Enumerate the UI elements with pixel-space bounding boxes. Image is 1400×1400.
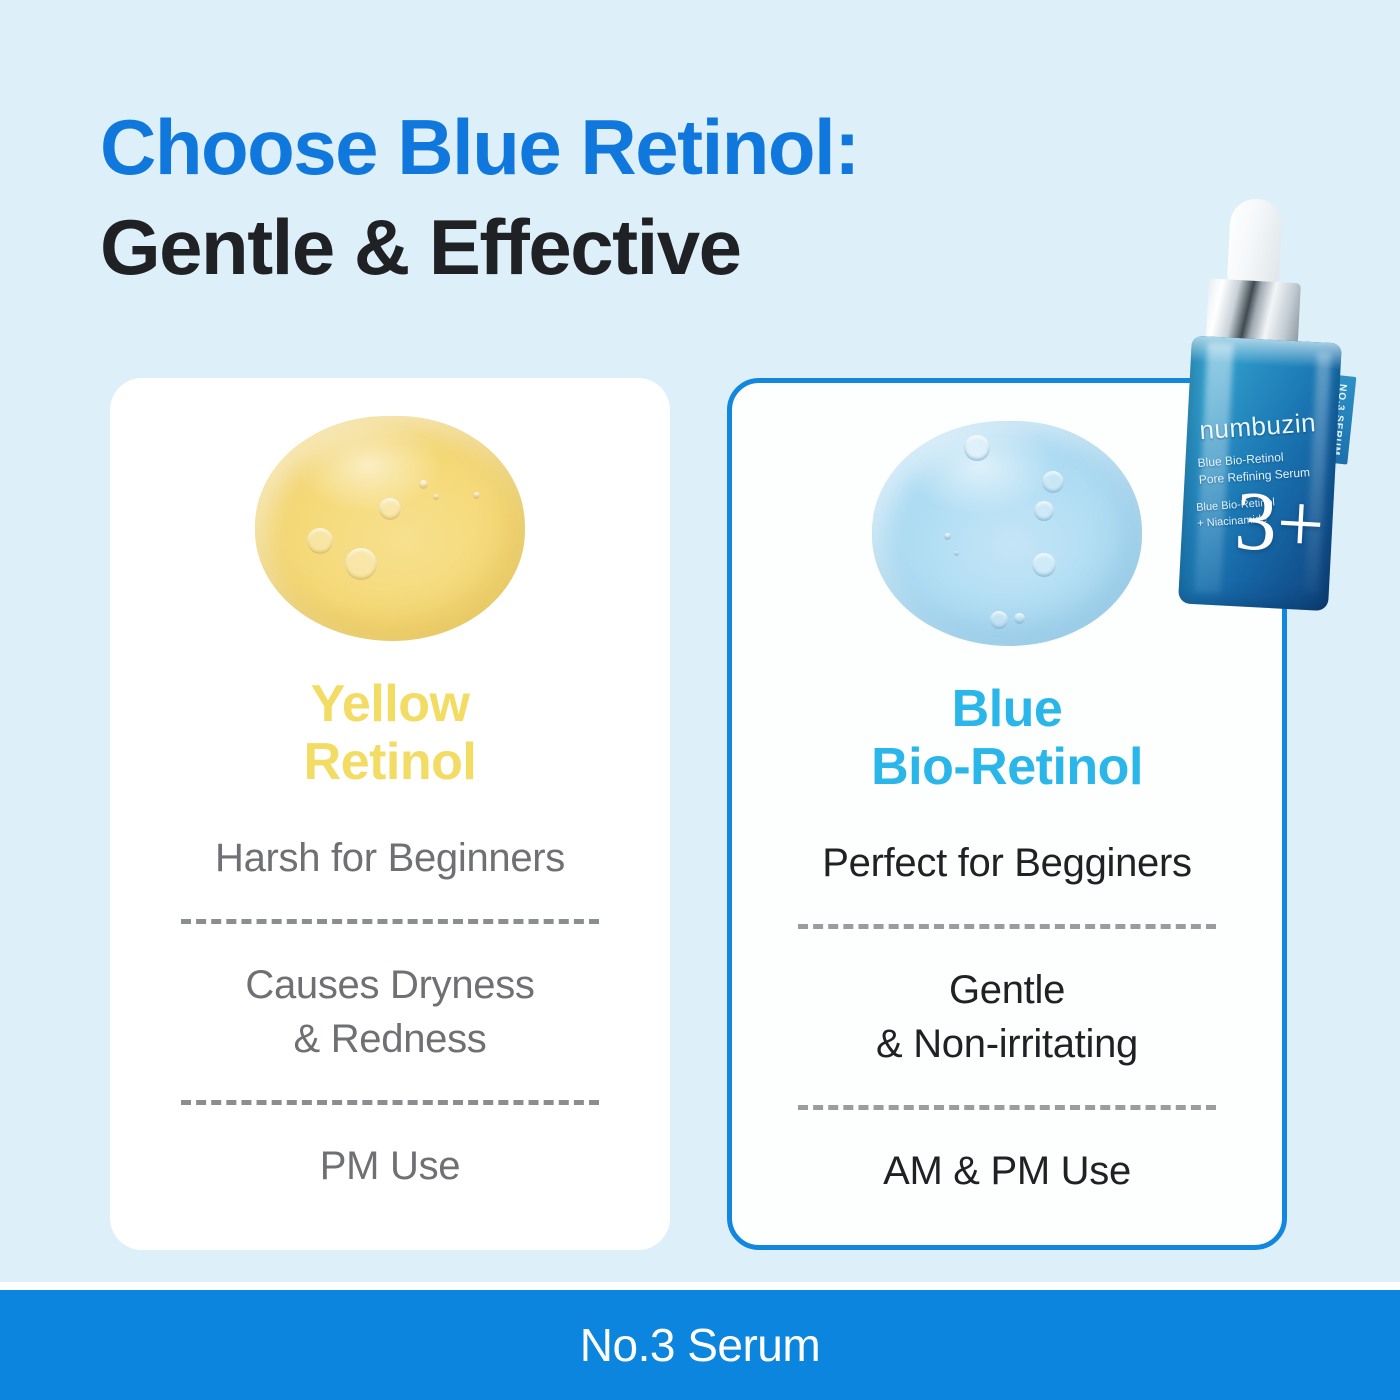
footer-label: No.3 Serum	[580, 1318, 820, 1372]
feature-item: AM & PM Use	[883, 1144, 1131, 1198]
yellow-serum-drop-icon	[255, 416, 525, 641]
footer-separator	[0, 1282, 1400, 1290]
card-title-blue-line-2: Bio-Retinol	[871, 738, 1143, 796]
feature-text: Gentle	[876, 963, 1138, 1017]
dropper-bulb-icon	[1227, 198, 1284, 293]
feature-item: Gentle & Non-irritating	[876, 963, 1138, 1071]
dropper-collar-icon	[1206, 278, 1301, 345]
feature-list-blue: Perfect for Begginers Gentle & Non-irrit…	[732, 836, 1282, 1198]
card-yellow-retinol[interactable]: Yellow Retinol Harsh for Beginners Cause…	[110, 378, 670, 1250]
feature-text: & Non-irritating	[876, 1017, 1138, 1071]
feature-text: Causes Dryness	[245, 958, 534, 1012]
product-bottle-image: NO.3 SERUM numbuzin Blue Bio-Retinol Por…	[1157, 195, 1389, 635]
headline-line-2: Gentle & Effective	[100, 208, 1250, 286]
feature-item: Perfect for Begginers	[822, 836, 1191, 890]
feature-divider	[181, 1100, 599, 1105]
feature-divider	[798, 924, 1216, 929]
feature-item: PM Use	[320, 1139, 460, 1193]
feature-list-yellow: Harsh for Beginners Causes Dryness & Red…	[110, 831, 670, 1193]
card-title-blue: Blue Bio-Retinol	[871, 680, 1143, 796]
card-title-yellow-line-1: Yellow	[304, 675, 477, 733]
feature-item: Harsh for Beginners	[215, 831, 565, 885]
brand-name: numbuzin	[1198, 407, 1317, 446]
headline-line-1: Choose Blue Retinol:	[100, 108, 1250, 186]
feature-divider	[798, 1105, 1216, 1110]
feature-text: AM & PM Use	[883, 1144, 1131, 1198]
feature-item: Causes Dryness & Redness	[245, 958, 534, 1066]
product-number-badge: 3+	[1233, 487, 1326, 559]
feature-text: Harsh for Beginners	[215, 831, 565, 885]
card-title-yellow: Yellow Retinol	[304, 675, 477, 791]
feature-divider	[181, 919, 599, 924]
bottle-body: numbuzin Blue Bio-Retinol Pore Refining …	[1178, 336, 1342, 611]
blue-serum-drop-icon	[872, 421, 1142, 646]
page-title: Choose Blue Retinol: Gentle & Effective	[100, 108, 1250, 286]
feature-text: & Redness	[245, 1012, 534, 1066]
footer-banner: No.3 Serum	[0, 1290, 1400, 1400]
card-title-blue-line-1: Blue	[871, 680, 1143, 738]
feature-text: PM Use	[320, 1139, 460, 1193]
card-title-yellow-line-2: Retinol	[304, 733, 477, 791]
feature-text: Perfect for Begginers	[822, 836, 1191, 890]
